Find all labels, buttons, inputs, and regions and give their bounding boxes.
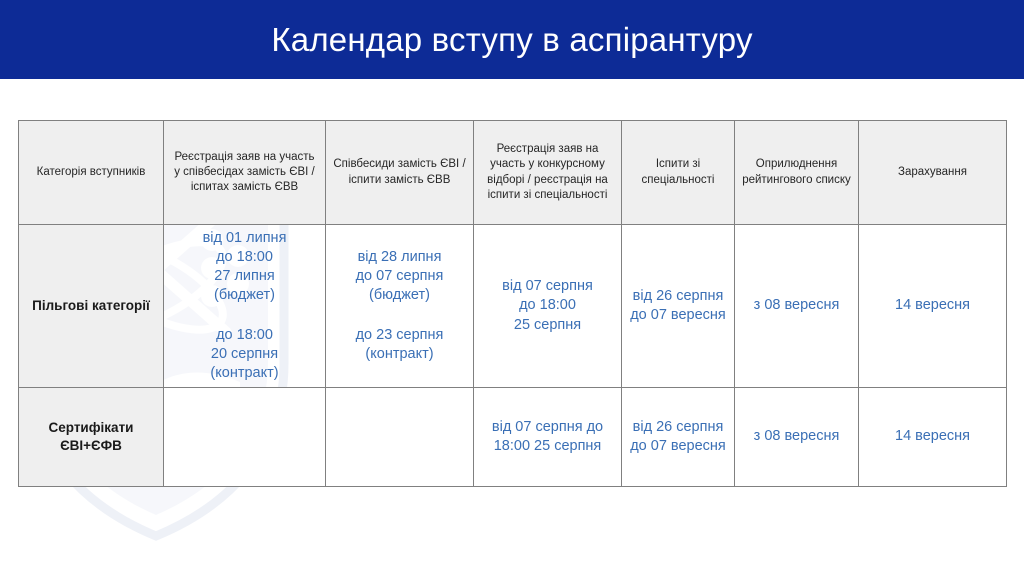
cell-exams: від 26 серпнядо 07 вересня	[622, 225, 735, 388]
cell-category: Пільгові категорії	[19, 225, 164, 388]
date-group: до 18:0020 серпня(контракт)	[170, 326, 319, 383]
table-row: Пільгові категорії від 01 липнядо 18:002…	[19, 225, 1007, 388]
date-line: 14 вересня	[865, 427, 1000, 446]
cell-enrollment: 14 вересня	[859, 225, 1007, 388]
date-line: 27 липня	[170, 267, 319, 286]
date-line: від 26 серпня	[628, 418, 728, 437]
date-line: з 08 вересня	[741, 427, 852, 446]
date-group: від 07 серпня до18:00 25 серпня	[480, 418, 615, 456]
date-line: (контракт)	[170, 364, 319, 383]
cell-registration1: від 01 липнядо 18:0027 липня(бюджет)до 1…	[164, 225, 326, 388]
date-group: від 28 липнядо 07 серпня(бюджет)	[332, 248, 467, 305]
page-title: Календар вступу в аспірантуру	[271, 23, 752, 56]
date-group: від 26 серпнядо 07 вересня	[628, 418, 728, 456]
cell-interviews: від 28 липнядо 07 серпня(бюджет)до 23 се…	[326, 225, 474, 388]
date-group: з 08 вересня	[741, 427, 852, 446]
table-header-row: Категорія вступників Реєстрація заяв на …	[19, 121, 1007, 225]
date-line: від 01 липня	[170, 229, 319, 248]
date-group: від 01 липнядо 18:0027 липня(бюджет)	[170, 229, 319, 306]
date-group: 14 вересня	[865, 427, 1000, 446]
date-group: 14 вересня	[865, 296, 1000, 315]
column-header-exams: Іспити зі спеціальності	[622, 121, 735, 225]
cell-registration1	[164, 387, 326, 486]
column-header-registration2: Реєстрація заяв на участь у конкурсному …	[474, 121, 622, 225]
admission-calendar-table-wrapper: Категорія вступників Реєстрація заяв на …	[18, 120, 1006, 470]
table-header: Категорія вступників Реєстрація заяв на …	[19, 121, 1007, 225]
date-line: від 07 серпня до	[480, 418, 615, 437]
cell-enrollment: 14 вересня	[859, 387, 1007, 486]
date-line: 20 серпня	[170, 345, 319, 364]
column-header-registration1: Реєстрація заяв на участь у співбесідах …	[164, 121, 326, 225]
date-line: від 07 серпня	[480, 277, 615, 296]
date-group: до 23 серпня(контракт)	[332, 326, 467, 364]
date-line: до 18:00	[480, 296, 615, 315]
date-line: 14 вересня	[865, 296, 1000, 315]
date-line: 25 серпня	[480, 316, 615, 335]
date-group: від 07 серпнядо 18:0025 серпня	[480, 277, 615, 334]
date-line: 18:00 25 серпня	[480, 437, 615, 456]
date-line: від 28 липня	[332, 248, 467, 267]
column-header-interviews: Співбесиди замість ЄВІ / іспити замість …	[326, 121, 474, 225]
table-row: Сертифікати ЄВІ+ЄФВ від 07 серпня до18:0…	[19, 387, 1007, 486]
cell-category: Сертифікати ЄВІ+ЄФВ	[19, 387, 164, 486]
date-line: від 26 серпня	[628, 287, 728, 306]
date-line: до 07 вересня	[628, 306, 728, 325]
cell-rating: з 08 вересня	[735, 225, 859, 388]
date-line: до 07 серпня	[332, 267, 467, 286]
cell-registration2: від 07 серпнядо 18:0025 серпня	[474, 225, 622, 388]
cell-rating: з 08 вересня	[735, 387, 859, 486]
column-header-category: Категорія вступників	[19, 121, 164, 225]
date-line: до 07 вересня	[628, 437, 728, 456]
date-line: до 18:00	[170, 248, 319, 267]
date-line: з 08 вересня	[741, 296, 852, 315]
column-header-rating: Оприлюднення рейтингового списку	[735, 121, 859, 225]
admission-calendar-table: Категорія вступників Реєстрація заяв на …	[18, 120, 1007, 487]
date-line: до 23 серпня	[332, 326, 467, 345]
table-body: Пільгові категорії від 01 липнядо 18:002…	[19, 225, 1007, 487]
date-line: (бюджет)	[170, 286, 319, 305]
date-group: з 08 вересня	[741, 296, 852, 315]
column-header-enrollment: Зарахування	[859, 121, 1007, 225]
date-group: від 26 серпнядо 07 вересня	[628, 287, 728, 325]
cell-exams: від 26 серпнядо 07 вересня	[622, 387, 735, 486]
date-line: (бюджет)	[332, 286, 467, 305]
cell-registration2: від 07 серпня до18:00 25 серпня	[474, 387, 622, 486]
title-bar: Календар вступу в аспірантуру	[0, 0, 1024, 79]
date-line: до 18:00	[170, 326, 319, 345]
date-line: (контракт)	[332, 345, 467, 364]
cell-interviews	[326, 387, 474, 486]
